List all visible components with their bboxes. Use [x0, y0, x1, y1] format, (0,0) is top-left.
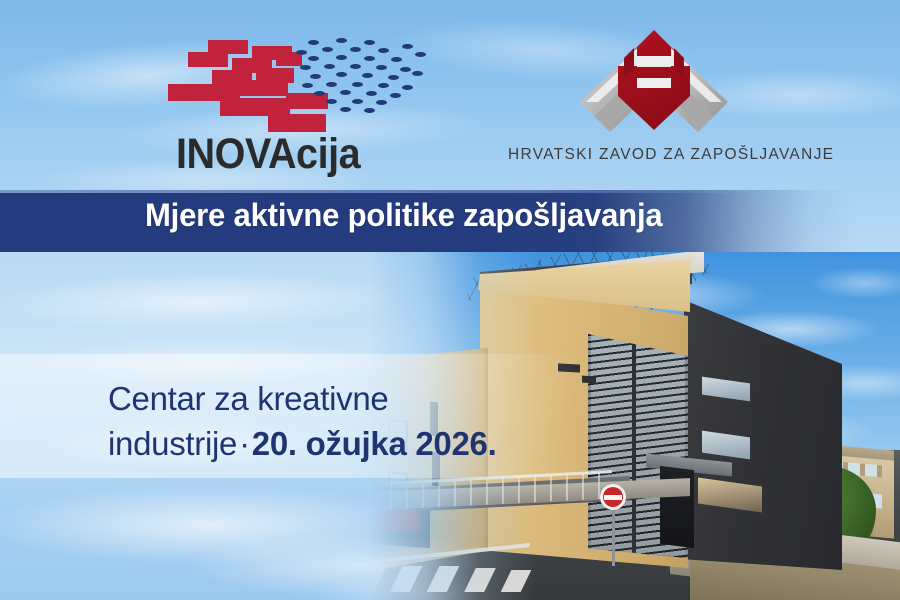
innovation-dot-swarm	[296, 38, 426, 116]
checker-block	[238, 80, 288, 96]
hzz-caption: HRVATSKI ZAVOD ZA ZAPOŠLJAVANJE	[508, 146, 796, 164]
event-date: 20. ožujka 2026.	[252, 425, 497, 462]
event-subtitle: Centar za kreativne industrije·20. ožujk…	[108, 376, 508, 466]
inovacija-logo[interactable]: INOVAcija	[168, 38, 418, 168]
subtitle-line-date: industrije·20. ožujka 2026.	[108, 421, 508, 466]
page-title: Mjere aktivne politike zapošljavanja	[145, 197, 662, 234]
hzz-diamond-mark	[580, 30, 728, 146]
inovacija-wordmark: INOVAcija	[176, 130, 360, 179]
separator-dot: ·	[237, 425, 252, 462]
venue-text: industrije	[108, 425, 237, 462]
subtitle-line-venue: Centar za kreativne	[108, 376, 508, 421]
checker-block	[188, 52, 228, 67]
red-car	[364, 510, 420, 532]
hzz-logo[interactable]: HRVATSKI ZAVOD ZA ZAPOŠLJAVANJE	[508, 30, 796, 170]
hzz-mark-svg	[580, 30, 728, 146]
photo-cloud	[785, 260, 900, 306]
no-entry-sign-icon	[600, 484, 626, 510]
banner-top-highlight	[0, 190, 900, 193]
poster-canvas: INOVAcija	[0, 0, 900, 600]
